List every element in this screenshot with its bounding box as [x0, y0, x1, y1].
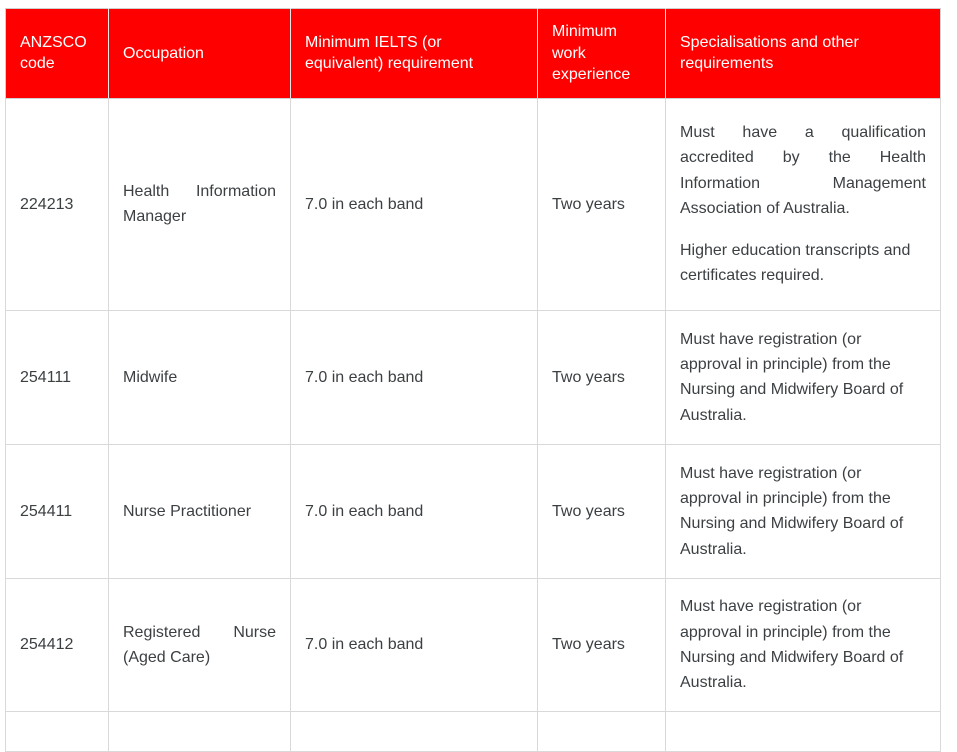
cell-specialisations: Must have a qualification accredited by …	[666, 98, 941, 310]
cell-specialisations: Must have registration (or approval in p…	[666, 578, 941, 711]
table-header: ANZSCO code Occupation Minimum IELTS (or…	[6, 9, 941, 99]
cell-occupation: Registered Nurse (Aged Care)	[109, 578, 291, 711]
cell-minimum-work-experience: Two years	[538, 444, 666, 578]
cell-anzsco-code	[6, 711, 109, 751]
cell-occupation	[109, 711, 291, 751]
table-row: 254412 Registered Nurse (Aged Care) 7.0 …	[6, 578, 941, 711]
specialisation-paragraph: Must have registration (or approval in p…	[680, 327, 926, 428]
cell-minimum-ielts	[291, 711, 538, 751]
cell-anzsco-code: 254412	[6, 578, 109, 711]
table-row: 224213 Health Information Manager 7.0 in…	[6, 98, 941, 310]
specialisation-paragraph: Must have registration (or approval in p…	[680, 461, 926, 562]
cell-anzsco-code: 254411	[6, 444, 109, 578]
cell-occupation: Nurse Practitioner	[109, 444, 291, 578]
table-row: 254111 Midwife 7.0 in each band Two year…	[6, 310, 941, 444]
column-header-anzsco-code: ANZSCO code	[6, 9, 109, 99]
table-row-partial	[6, 711, 941, 751]
cell-minimum-work-experience: Two years	[538, 310, 666, 444]
table-row: 254411 Nurse Practitioner 7.0 in each ba…	[6, 444, 941, 578]
cell-minimum-ielts: 7.0 in each band	[291, 578, 538, 711]
specialisation-paragraph: Must have a qualification accredited by …	[680, 120, 926, 221]
specialisation-paragraph: Higher education transcripts and certifi…	[680, 238, 926, 289]
cell-anzsco-code: 224213	[6, 98, 109, 310]
table-header-row: ANZSCO code Occupation Minimum IELTS (or…	[6, 9, 941, 99]
cell-minimum-ielts: 7.0 in each band	[291, 310, 538, 444]
column-header-specialisations: Specialisations and other requirements	[666, 9, 941, 99]
specialisation-paragraph: Must have registration (or approval in p…	[680, 594, 926, 695]
cell-minimum-ielts: 7.0 in each band	[291, 98, 538, 310]
column-header-minimum-work-experience: Minimum work experience	[538, 9, 666, 99]
cell-minimum-ielts: 7.0 in each band	[291, 444, 538, 578]
cell-minimum-work-experience	[538, 711, 666, 751]
cell-specialisations	[666, 711, 941, 751]
cell-occupation: Health Information Manager	[109, 98, 291, 310]
cell-anzsco-code: 254111	[6, 310, 109, 444]
occupations-table: ANZSCO code Occupation Minimum IELTS (or…	[5, 8, 941, 752]
document-page: ANZSCO code Occupation Minimum IELTS (or…	[0, 0, 957, 741]
cell-minimum-work-experience: Two years	[538, 578, 666, 711]
table-body: 224213 Health Information Manager 7.0 in…	[6, 98, 941, 751]
column-header-minimum-ielts: Minimum IELTS (or equivalent) requiremen…	[291, 9, 538, 99]
cell-specialisations: Must have registration (or approval in p…	[666, 444, 941, 578]
cell-minimum-work-experience: Two years	[538, 98, 666, 310]
column-header-occupation: Occupation	[109, 9, 291, 99]
cell-occupation: Midwife	[109, 310, 291, 444]
cell-specialisations: Must have registration (or approval in p…	[666, 310, 941, 444]
